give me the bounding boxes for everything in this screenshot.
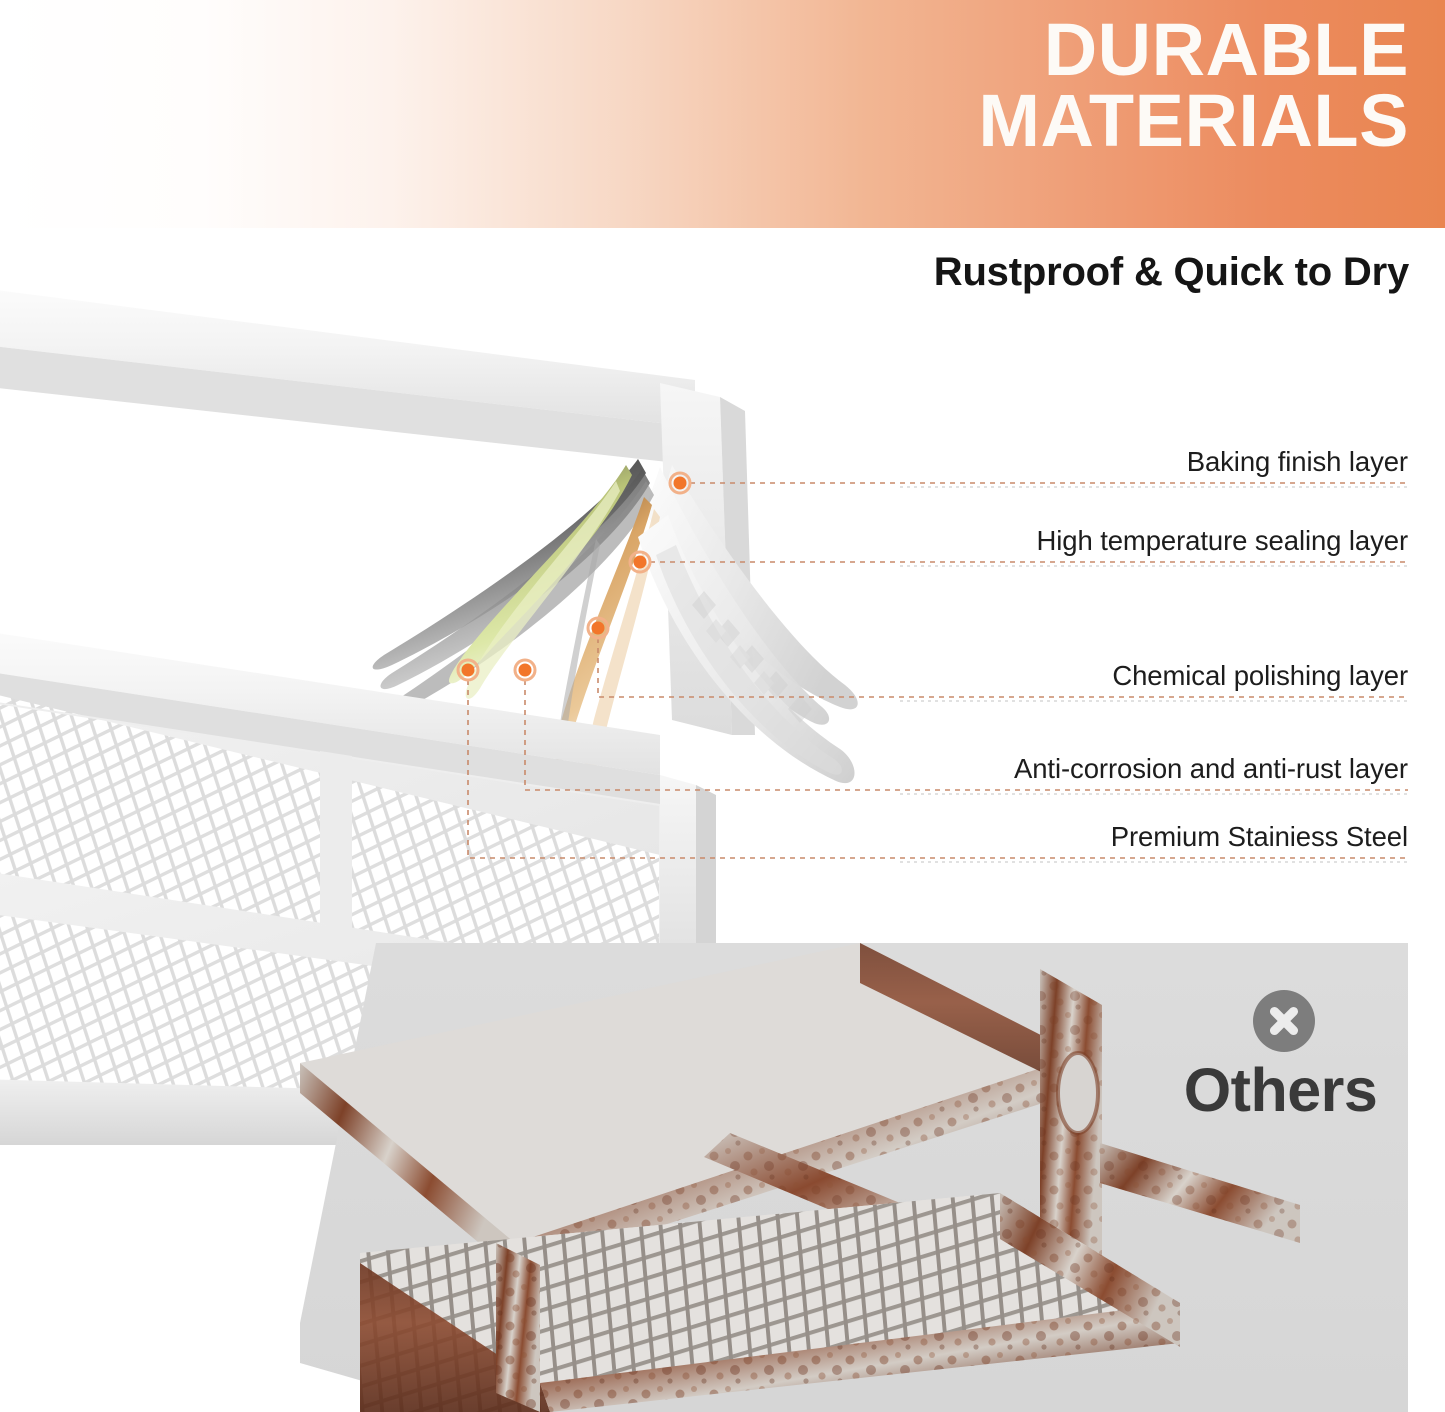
close-icon	[1253, 990, 1315, 1052]
callout-label-chemical-polishing: Chemical polishing layer	[1112, 660, 1408, 692]
callout-label-premium-stainless-steel: Premium Stainiess Steel	[1111, 821, 1408, 853]
others-label: Others	[1153, 1055, 1408, 1125]
infographic-canvas: DURABLE MATERIALS Rustproof & Quick to D…	[0, 0, 1445, 1412]
callout-label-high-temperature-sealing: High temperature sealing layer	[1037, 525, 1409, 557]
comparison-panel-others	[300, 943, 1408, 1412]
callout-label-anti-corrosion: Anti-corrosion and anti-rust layer	[1014, 753, 1408, 785]
callout-label-baking-finish: Baking finish layer	[1187, 446, 1408, 478]
